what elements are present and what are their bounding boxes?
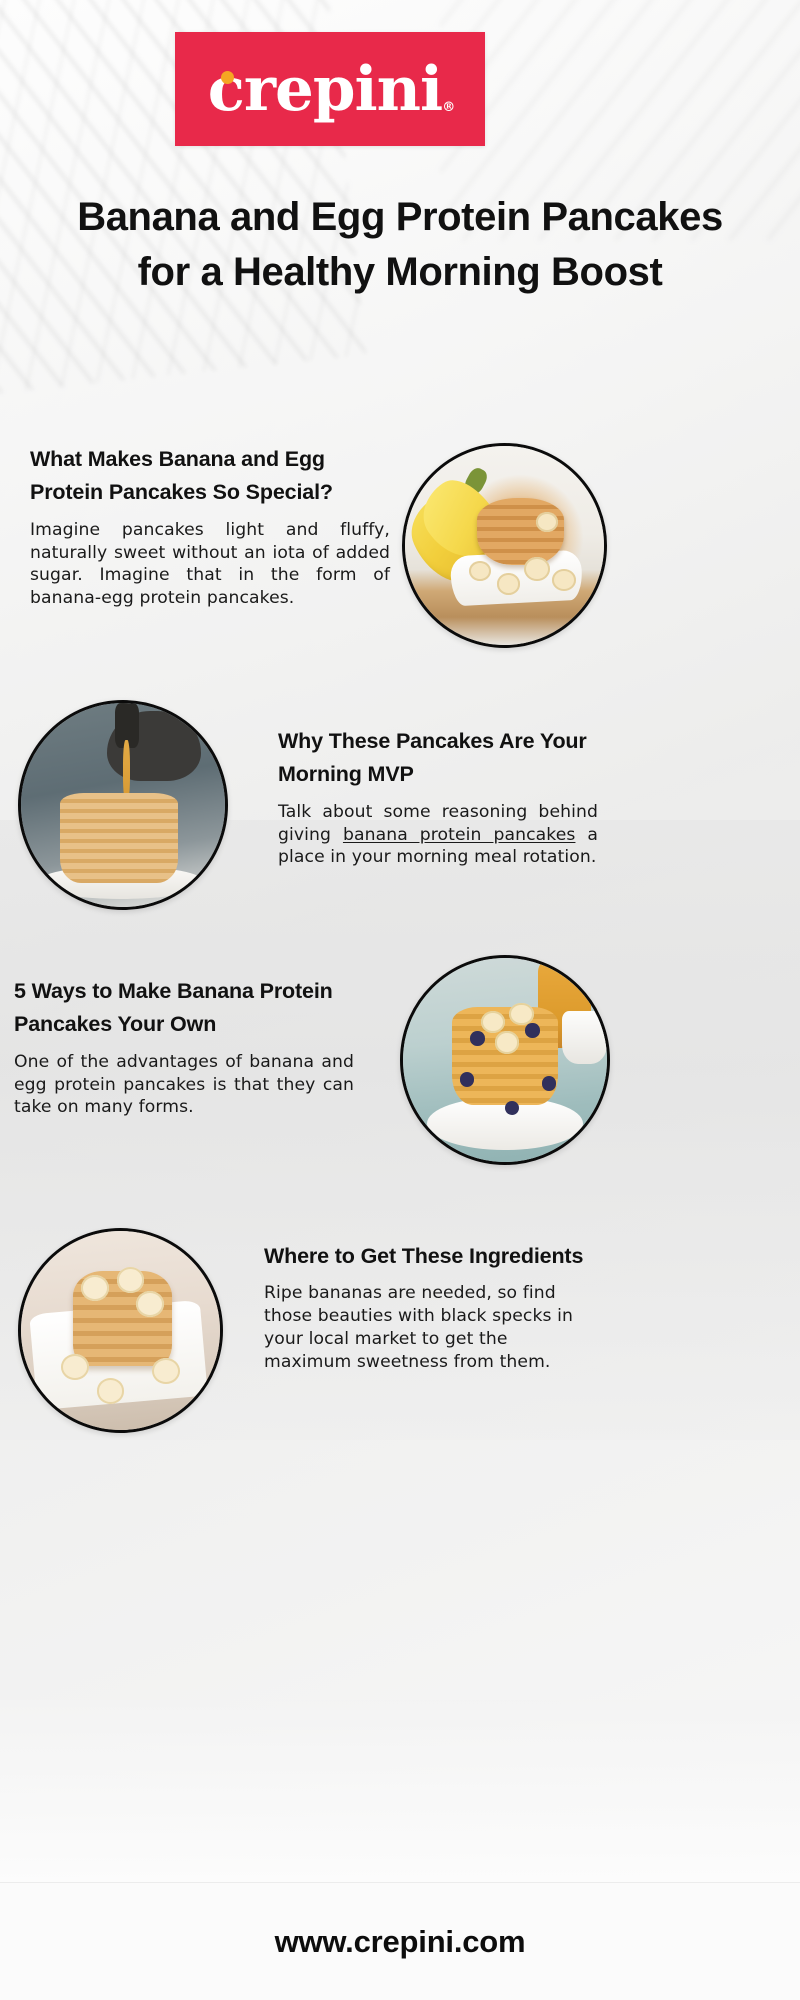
syrup-poured-on-pancakes-photo — [21, 703, 225, 907]
crepini-logo[interactable]: crepini ® — [175, 32, 485, 146]
logo-text: crepini — [208, 54, 442, 125]
section-4: Where to Get These Ingredients Ripe bana… — [264, 1240, 598, 1374]
pancakes-with-blueberries-photo — [403, 958, 607, 1162]
pancake-stack-with-bananas-photo — [405, 446, 604, 645]
section-2-heading: Why These Pancakes Are Your Morning MVP — [278, 725, 598, 792]
section-1-heading: What Makes Banana and Egg Protein Pancak… — [30, 443, 390, 510]
section-4-body: Ripe bananas are needed, so find those b… — [264, 1282, 598, 1374]
banana-protein-pancakes-link[interactable]: banana protein pancakes — [343, 825, 576, 845]
footer-website-url[interactable]: www.crepini.com — [275, 1924, 526, 1960]
section-4-heading: Where to Get These Ingredients — [264, 1240, 598, 1273]
section-3-heading: 5 Ways to Make Banana Protein Pancakes Y… — [14, 975, 354, 1042]
logo-accent-dot — [221, 71, 234, 84]
section-4-image — [18, 1228, 223, 1433]
registered-mark-icon: ® — [442, 101, 454, 114]
section-3-body: One of the advantages of banana and egg … — [14, 1051, 354, 1120]
section-2-image — [18, 700, 228, 910]
section-1-image — [402, 443, 607, 648]
footer: www.crepini.com — [0, 1882, 800, 2000]
section-2: Why These Pancakes Are Your Morning MVP … — [278, 725, 598, 869]
section-3-image — [400, 955, 610, 1165]
section-3: 5 Ways to Make Banana Protein Pancakes Y… — [14, 975, 354, 1119]
page-title: Banana and Egg Protein Pancakes for a He… — [50, 190, 750, 300]
section-2-body: Talk about some reasoning behind giving … — [278, 801, 598, 870]
infographic-page: crepini ® Banana and Egg Protein Pancake… — [0, 0, 800, 2000]
section-1-body: Imagine pancakes light and fluffy, natur… — [30, 519, 390, 611]
pancake-stack-on-white-plate-photo — [21, 1231, 220, 1430]
section-1: What Makes Banana and Egg Protein Pancak… — [30, 443, 390, 610]
logo-wordmark: crepini ® — [208, 59, 452, 120]
